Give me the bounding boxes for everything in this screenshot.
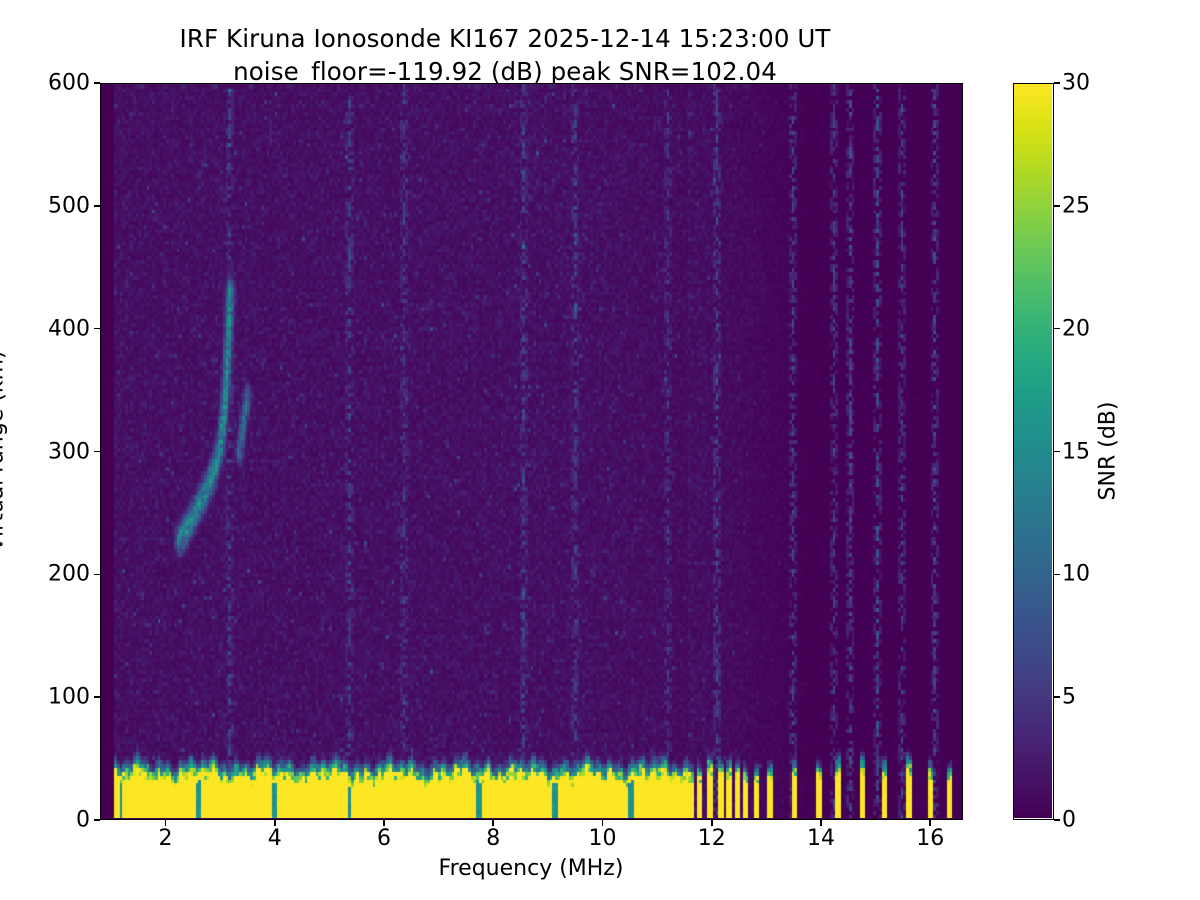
colorbar-tick-label-25: 25 [1062,193,1090,218]
colorbar-tick-label-20: 20 [1062,316,1090,341]
x-tick-label-2: 2 [159,826,173,851]
colorbar-label: SNR (dB) [1096,402,1121,501]
colorbar-tick-label-15: 15 [1062,439,1090,464]
y-tick-mark [94,82,100,84]
y-tick-mark [94,451,100,453]
x-axis-label: Frequency (MHz) [439,856,624,881]
x-tick-label-6: 6 [377,826,391,851]
figure-title: IRF Kiruna Ionosonde KI167 2025-12-14 15… [0,0,1010,88]
x-tick-mark [492,820,494,826]
x-tick-mark [602,820,604,826]
y-tick-mark [94,819,100,821]
x-tick-label-16: 16 [916,826,944,851]
colorbar-tick-mark [1054,82,1060,84]
ionogram-heatmap-plot [100,83,963,820]
colorbar [1013,83,1054,820]
colorbar-canvas [1014,84,1052,818]
y-tick-mark [94,328,100,330]
heatmap-canvas [101,84,961,818]
y-tick-mark [94,574,100,576]
x-tick-mark [820,820,822,826]
y-tick-label-200: 200 [48,562,90,587]
x-tick-label-10: 10 [589,826,617,851]
y-tick-label-600: 600 [48,71,90,96]
y-axis-label: Virtual range (km) [0,350,9,551]
x-tick-mark [274,820,276,826]
colorbar-tick-mark [1054,451,1060,453]
colorbar-tick-mark [1054,819,1060,821]
y-tick-label-300: 300 [48,439,90,464]
colorbar-tick-label-0: 0 [1062,808,1076,833]
colorbar-tick-label-30: 30 [1062,71,1090,96]
title-line-1: IRF Kiruna Ionosonde KI167 2025-12-14 15… [0,22,1010,55]
x-tick-label-12: 12 [698,826,726,851]
ionogram-figure: IRF Kiruna Ionosonde KI167 2025-12-14 15… [0,0,1200,900]
y-tick-mark [94,205,100,207]
x-tick-mark [165,820,167,826]
colorbar-tick-label-5: 5 [1062,685,1076,710]
colorbar-tick-mark [1054,696,1060,698]
x-tick-label-14: 14 [807,826,835,851]
y-tick-mark [94,696,100,698]
colorbar-tick-label-10: 10 [1062,562,1090,587]
colorbar-tick-mark [1054,328,1060,330]
x-tick-mark [711,820,713,826]
colorbar-tick-mark [1054,205,1060,207]
x-tick-label-4: 4 [268,826,282,851]
y-tick-label-500: 500 [48,193,90,218]
y-tick-label-0: 0 [76,808,90,833]
y-tick-label-100: 100 [48,685,90,710]
x-tick-label-8: 8 [486,826,500,851]
x-tick-mark [929,820,931,826]
colorbar-tick-mark [1054,574,1060,576]
x-tick-mark [383,820,385,826]
y-tick-label-400: 400 [48,316,90,341]
